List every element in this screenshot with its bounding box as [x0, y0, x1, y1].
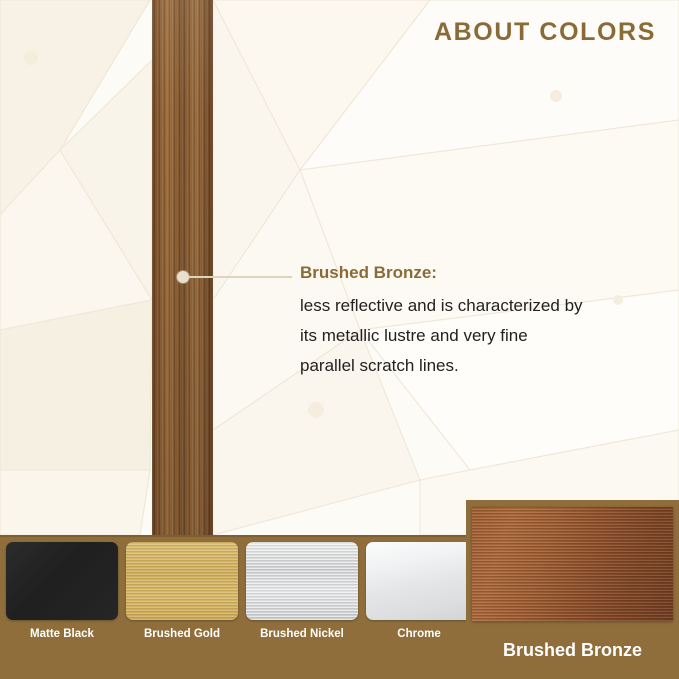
- brushed-bronze-column: [152, 0, 213, 536]
- swatch-chip-chrome[interactable]: [366, 542, 472, 620]
- swatch-brushed-gold[interactable]: Brushed Gold: [126, 542, 238, 620]
- description-line: its metallic lustre and very fine: [300, 321, 660, 351]
- swatch-label-chrome: Chrome: [359, 628, 479, 640]
- swatch-chrome[interactable]: Chrome: [366, 542, 472, 620]
- swatch-chip-brushed-gold[interactable]: [126, 542, 238, 620]
- description-block: Brushed Bronze: less reflective and is c…: [300, 263, 660, 381]
- description-line: parallel scratch lines.: [300, 351, 660, 381]
- swatch-matte-black[interactable]: Matte Black: [6, 542, 118, 620]
- about-colors-infographic: ABOUT COLORS Brushed Bronze: less reflec…: [0, 0, 679, 679]
- swatch-chip-brushed-bronze[interactable]: [472, 507, 673, 621]
- description-line: less reflective and is characterized by: [300, 291, 660, 321]
- swatch-brushed-nickel[interactable]: Brushed Nickel: [246, 542, 358, 620]
- swatch-label-brushed-nickel: Brushed Nickel: [242, 628, 362, 640]
- page-title: ABOUT COLORS: [434, 18, 656, 47]
- swatch-chip-brushed-nickel[interactable]: [246, 542, 358, 620]
- swatch-label-brushed-bronze: Brushed Bronze: [466, 640, 679, 661]
- swatch-label-brushed-gold: Brushed Gold: [122, 628, 242, 640]
- description-heading: Brushed Bronze:: [300, 263, 660, 283]
- swatch-label-matte-black: Matte Black: [2, 628, 122, 640]
- swatch-chip-matte-black[interactable]: [6, 542, 118, 620]
- callout-leader-line: [188, 276, 292, 278]
